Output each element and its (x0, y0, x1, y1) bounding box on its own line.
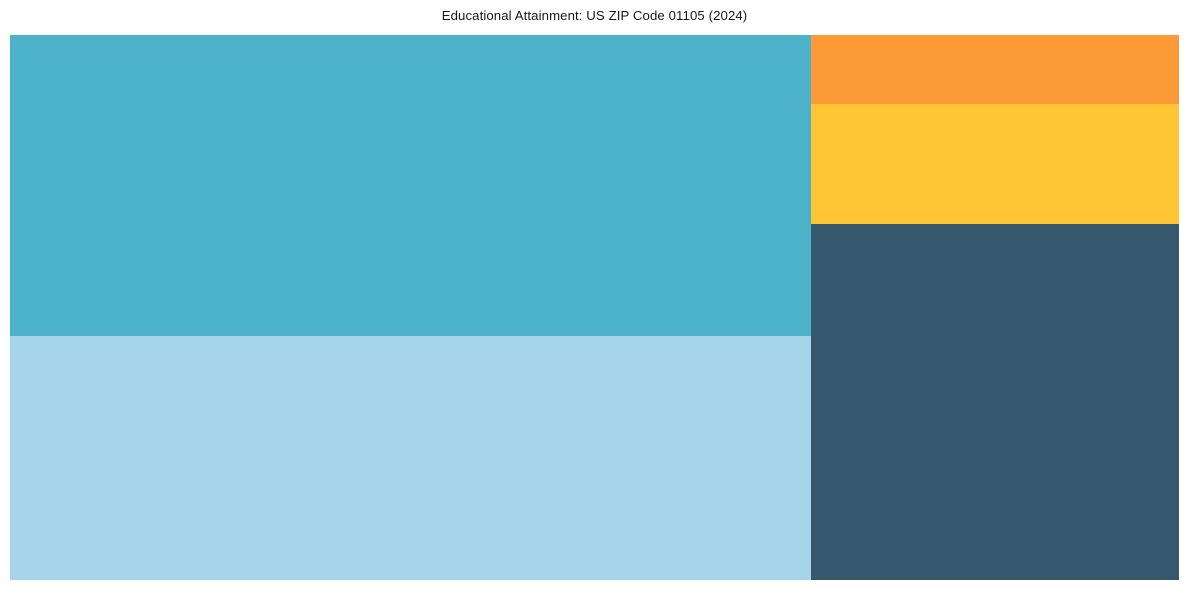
treemap-column-right: Graduate or professional degree Bachelor… (811, 35, 1179, 580)
treemap-plot-area: Less than high school High school gradua… (10, 35, 1179, 580)
treemap-tile-some-college-or-associate-degree[interactable]: Some college or associate degree (811, 224, 1179, 580)
treemap-column-left: Less than high school High school gradua… (10, 35, 811, 580)
treemap-tile-high-school-graduate[interactable]: High school graduate (10, 336, 811, 580)
treemap-tile-less-than-high-school[interactable]: Less than high school (10, 35, 811, 336)
chart-title: Educational Attainment: US ZIP Code 0110… (0, 8, 1189, 24)
treemap-tile-graduate-or-professional-degree[interactable]: Graduate or professional degree (811, 35, 1179, 104)
treemap-tile-bachelors-degree[interactable]: Bachelor's degree (811, 104, 1179, 224)
figure-canvas: Educational Attainment: US ZIP Code 0110… (0, 0, 1189, 590)
